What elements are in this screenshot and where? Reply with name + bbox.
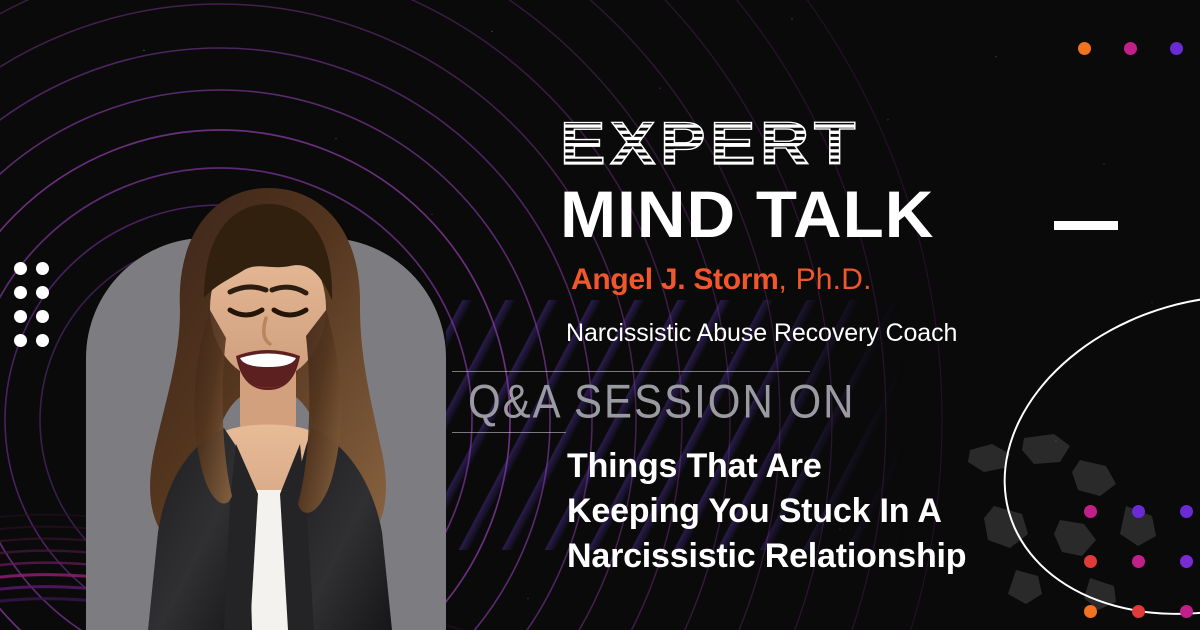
brand-title-mindtalk: MIND TALK (560, 181, 934, 247)
headline-line-3: Narcissistic Relationship (567, 534, 966, 579)
world-map-texture (940, 410, 1200, 630)
decor-dot (36, 334, 49, 347)
decor-dot (1132, 505, 1145, 518)
decor-dot (36, 262, 49, 275)
decor-dot (14, 334, 27, 347)
decor-dot (1084, 555, 1097, 568)
brand-title-expert: EXPERT (560, 112, 870, 174)
decor-dot (14, 310, 27, 323)
speaker-portrait (86, 238, 446, 630)
title-dash-decoration (1054, 221, 1118, 230)
decor-dot (1180, 505, 1193, 518)
banner-canvas: EXPERT MIND TALK Angel J. Storm, Ph.D. N… (0, 0, 1200, 630)
headline-line-1: Things That Are (567, 444, 966, 489)
decor-dot (1180, 555, 1193, 568)
decor-dot (14, 262, 27, 275)
qa-divider-top (452, 371, 810, 372)
session-headline: Things That Are Keeping You Stuck In A N… (567, 444, 966, 579)
decor-dot (1132, 555, 1145, 568)
speaker-name: Angel J. Storm, Ph.D. (571, 265, 872, 295)
speaker-role: Narcissistic Abuse Recovery Coach (566, 319, 957, 348)
decor-dot (1124, 42, 1137, 55)
decor-dot (1132, 605, 1145, 618)
decor-dot (1078, 42, 1091, 55)
speaker-credential-text: , Ph.D. (779, 263, 872, 296)
decor-dot (1084, 505, 1097, 518)
qa-divider-bottom (452, 432, 566, 433)
decor-dot (1180, 605, 1193, 618)
speaker-name-text: Angel J. Storm (571, 263, 779, 296)
decor-dot (1084, 605, 1097, 618)
qa-session-eyebrow: Q&A SESSION ON (468, 376, 855, 428)
decor-dot (36, 286, 49, 299)
headline-line-2: Keeping You Stuck In A (567, 489, 966, 534)
decor-dot (1170, 42, 1183, 55)
decor-dot (14, 286, 27, 299)
decor-dot (36, 310, 49, 323)
svg-text:EXPERT: EXPERT (560, 112, 860, 174)
portrait-photo (94, 160, 442, 630)
large-white-ellipse-decoration (965, 248, 1200, 630)
